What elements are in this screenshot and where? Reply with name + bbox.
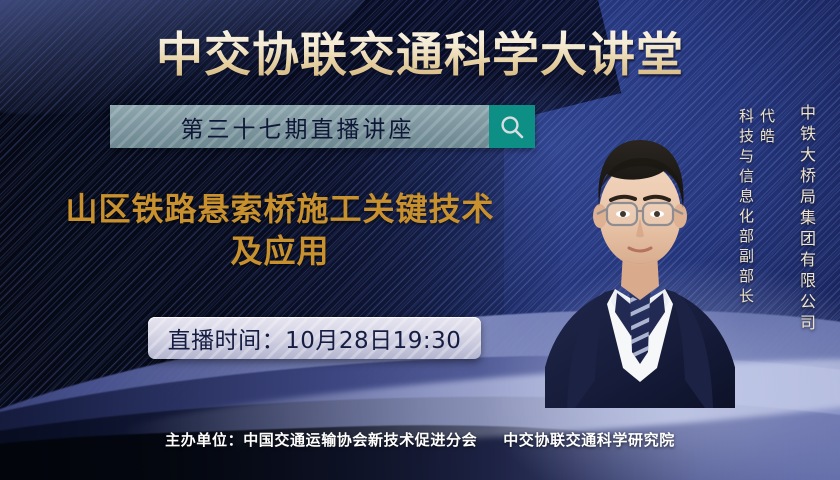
lecture-title-line-1: 山区铁路悬索桥施工关键技术 bbox=[20, 188, 540, 230]
footer-org-1: 中国交通运输协会新技术促进分会 bbox=[243, 431, 477, 449]
speaker-name: 代皓 bbox=[758, 108, 776, 148]
lecture-title: 山区铁路悬索桥施工关键技术 及应用 bbox=[20, 188, 540, 272]
live-lecture-poster: 中交协联交通科学大讲堂 第三十七期直播讲座 山区铁路悬索桥施工关键技术 及应用 … bbox=[0, 0, 840, 480]
episode-banner: 第三十七期直播讲座 bbox=[110, 105, 535, 148]
broadcast-time-banner: 直播时间：10月28日19:30 bbox=[148, 317, 481, 359]
speaker-organization: 中铁大桥局集团有限公司 bbox=[794, 104, 818, 335]
episode-banner-text-area: 第三十七期直播讲座 bbox=[110, 105, 489, 148]
lecture-title-line-2: 及应用 bbox=[20, 230, 540, 272]
page-title: 中交协联交通科学大讲堂 bbox=[0, 16, 840, 85]
speaker-position: 科技与信息化部副部长 bbox=[737, 108, 755, 308]
search-icon bbox=[489, 105, 535, 148]
footer-organizers: 主办单位：中国交通运输协会新技术促进分会中交协联交通科学研究院 bbox=[0, 429, 840, 450]
footer-prefix: 主办单位： bbox=[165, 431, 243, 449]
broadcast-time-text: 直播时间：10月28日19:30 bbox=[168, 321, 462, 355]
episode-label: 第三十七期直播讲座 bbox=[181, 110, 419, 144]
speaker-portrait bbox=[545, 90, 735, 408]
speaker-info: 代皓 科技与信息化部副部长 bbox=[736, 108, 778, 308]
footer-org-2: 中交协联交通科学研究院 bbox=[503, 431, 675, 449]
